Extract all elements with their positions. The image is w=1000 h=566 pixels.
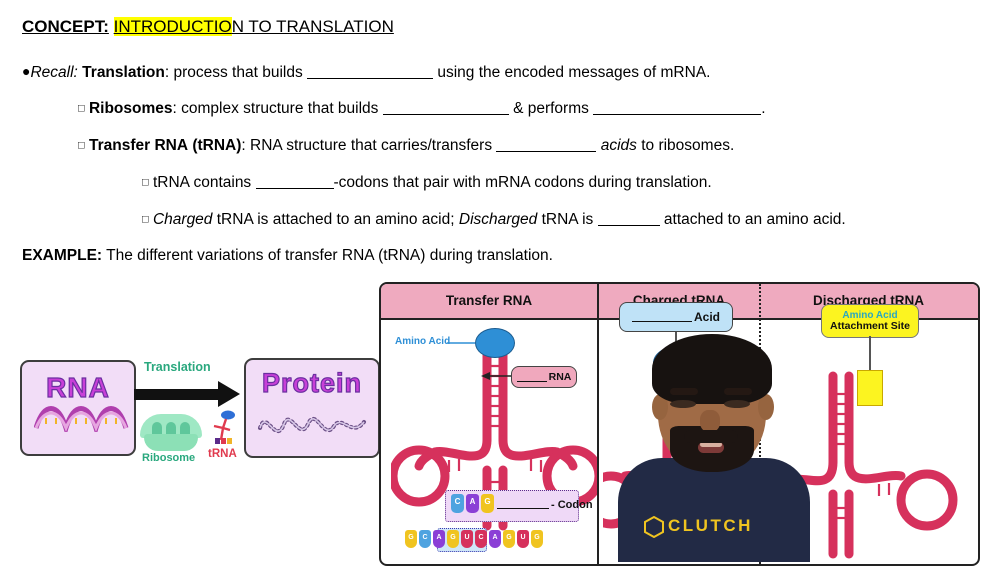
translation-arrow [134, 380, 244, 406]
sub2-italic-charged: Charged [153, 211, 212, 228]
discharged-tag-line2: Attachment Site [830, 321, 910, 332]
trna-figure-label: tRNA [208, 448, 237, 460]
charged-acid-tag: Acid [619, 302, 733, 332]
sub1-text-b: -codons that pair with mRNA codons durin… [334, 174, 712, 191]
term-ribosomes: Ribosomes [89, 100, 173, 117]
rna-tag-blank [517, 372, 547, 382]
note-ribosomes: □ Ribosomes: complex structure that buil… [78, 99, 766, 119]
trna-italic-acids: acids [601, 137, 637, 154]
amino-acid-label: Amino Acid [395, 336, 450, 347]
mrna-base-6: A [489, 530, 501, 548]
instructor-eye-right [724, 400, 750, 408]
charged-acid-text: Acid [694, 310, 720, 324]
polypeptide-chain-icon [256, 402, 368, 450]
square-bullet-icon: □ [78, 103, 85, 115]
instructor-brow-right [724, 388, 752, 395]
protein-wordart-label: Protein [246, 368, 378, 399]
fill-blank-5 [256, 176, 334, 189]
anticodon-base-1: A [466, 494, 479, 513]
note-recall: ●Recall: Translation: process that build… [22, 62, 710, 82]
sub2-italic-discharged: Discharged [459, 211, 537, 228]
sub2-text-b: tRNA is [542, 211, 594, 228]
translation-label: Translation [144, 360, 211, 374]
square-bullet-icon: □ [142, 214, 149, 226]
charged-acid-blank [632, 312, 692, 322]
concept-title-highlighted: INTRODUCTIO [114, 17, 232, 36]
rna-tag-text: RNA [549, 371, 572, 383]
mrna-base-5: C [475, 530, 487, 548]
arrow-head-icon [218, 381, 240, 407]
arrow-shaft [134, 389, 220, 400]
fill-blank-1 [307, 66, 433, 79]
amino-acid-ellipse [475, 328, 515, 358]
lecture-notes-panel: CONCEPT: INTRODUCTION TO TRANSLATION ●Re… [0, 0, 1000, 280]
mrna-base-1: C [419, 530, 431, 548]
discharged-attachment-site-tag: Amino Acid Attachment Site [821, 304, 919, 338]
note-example: EXAMPLE: The different variations of tra… [22, 246, 553, 265]
anticodon-label: - Codon [497, 499, 593, 511]
recall-text-b: using the encoded messages of mRNA. [437, 64, 710, 81]
protein-box: Protein [244, 358, 380, 458]
mrna-base-8: U [517, 530, 529, 548]
amino-acid-leader-line [447, 339, 477, 347]
ribosome-icon [140, 414, 202, 452]
mrna-base-2: A [433, 530, 445, 548]
attachment-site-highlight-box [857, 370, 883, 406]
recall-word: Recall: [30, 64, 77, 81]
instructor-webcam-overlay: CLUTCH [596, 330, 828, 562]
term-translation: Translation [82, 64, 165, 81]
ribosomes-text-a: : complex structure that builds [173, 100, 379, 117]
rna-box: RNA [20, 360, 136, 456]
trna-text-b: to ribosomes. [641, 137, 734, 154]
instructor-moustache [684, 430, 738, 443]
discharged-leader-line [869, 336, 871, 372]
term-trna-abbr: (tRNA) [192, 137, 241, 154]
anticodon-blank [497, 499, 549, 509]
note-sub-anticodon: □ tRNA contains -codons that pair with m… [142, 173, 712, 193]
shirt-brand-text: CLUTCH [668, 516, 753, 536]
mrna-base-7: G [503, 530, 515, 548]
column-header-transfer-rna: Transfer RNA [381, 284, 597, 318]
mrna-strand: G C A G U C A G U G [405, 530, 585, 550]
instructor-eye-left [670, 400, 696, 408]
concept-title-rest: N TO TRANSLATION [232, 17, 394, 36]
recall-text-a: : process that builds [165, 64, 303, 81]
instructor-nose [700, 410, 720, 432]
trna-icon [208, 410, 238, 450]
sub2-text-c: attached to an amino acid. [664, 211, 846, 228]
square-bullet-icon: □ [78, 140, 85, 152]
ribosomes-text-c: . [761, 100, 765, 117]
anticodon-text: - Codon [551, 499, 593, 511]
fill-blank-6 [598, 213, 660, 226]
anticodon-base-2: G [481, 494, 494, 513]
rna-tag-arrow-icon [481, 370, 513, 382]
instructor-brow-left [670, 388, 698, 395]
clutch-hex-logo-icon [644, 516, 664, 538]
mrna-base-4: U [461, 530, 473, 548]
rna-to-protein-figure: RNA Translation Ribosome tRNA Protein [12, 352, 372, 470]
mrna-base-9: G [531, 530, 543, 548]
fill-blank-3 [593, 102, 761, 115]
fill-blank-4 [496, 139, 596, 152]
example-text: The different variations of transfer RNA… [106, 247, 553, 264]
rna-tag: RNA [511, 366, 577, 388]
term-transfer-rna: Transfer RNA [89, 137, 188, 154]
ribosome-label: Ribosome [142, 452, 195, 464]
square-bullet-icon: □ [142, 177, 149, 189]
rna-strand-icon [34, 398, 144, 432]
instructor-torso [618, 458, 810, 562]
fill-blank-2 [383, 102, 509, 115]
mrna-base-3: G [447, 530, 459, 548]
example-label: EXAMPLE: [22, 247, 102, 264]
anticodon-base-0: C [451, 494, 464, 513]
ribosome-small-subunit [144, 434, 198, 451]
concept-label: CONCEPT: [22, 17, 109, 36]
ribosomes-text-b: & performs [513, 100, 589, 117]
mrna-base-0: G [405, 530, 417, 548]
trna-text-a: : RNA structure that carries/transfers [241, 137, 492, 154]
note-sub-charged: □ Charged tRNA is attached to an amino a… [142, 210, 846, 230]
sub2-text-a: tRNA is attached to an amino acid; [217, 211, 455, 228]
sub1-text-a: tRNA contains [153, 174, 251, 191]
concept-heading: CONCEPT: INTRODUCTION TO TRANSLATION [22, 17, 394, 37]
note-transfer-rna: □ Transfer RNA (tRNA): RNA structure tha… [78, 136, 734, 156]
